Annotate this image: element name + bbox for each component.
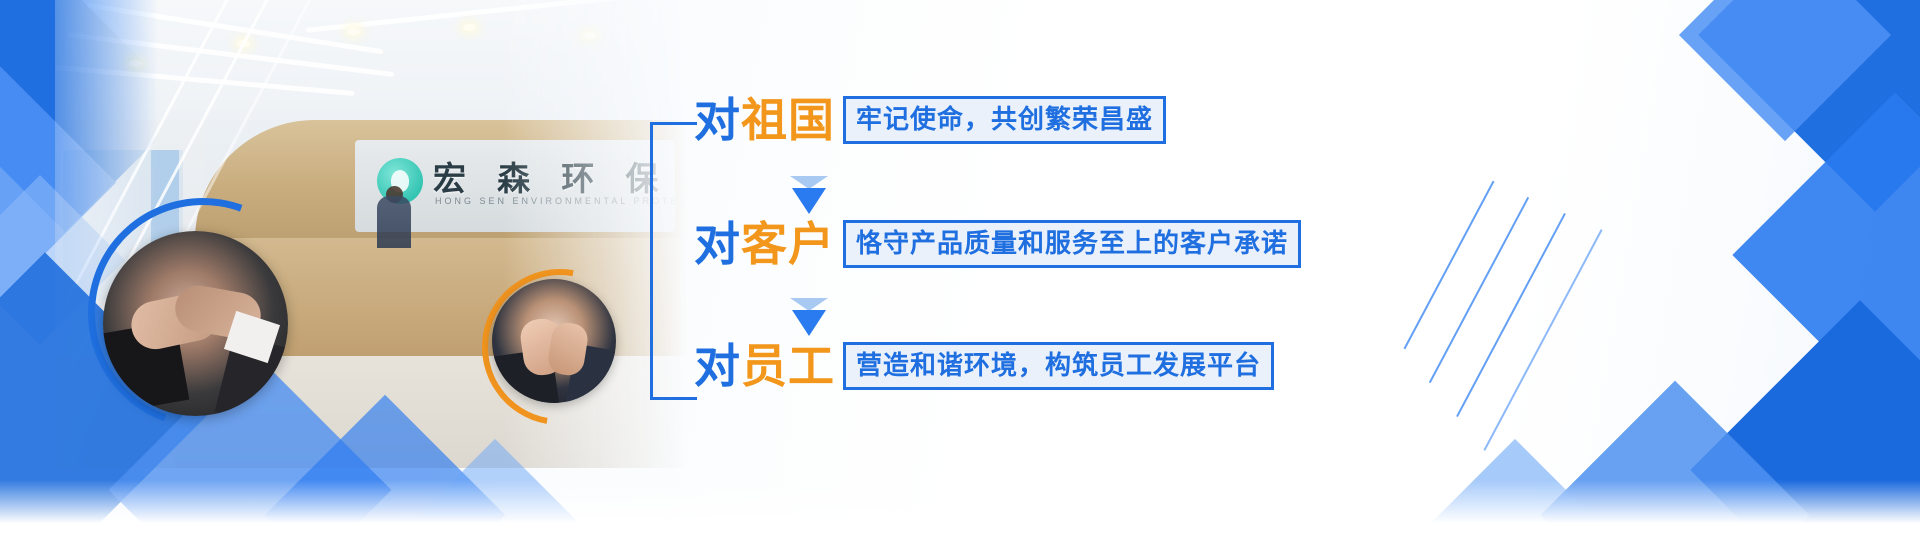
row1-target: 祖国: [741, 97, 835, 143]
culture-statements: 对 祖国 牢记使命，共创繁荣昌盛 对 客户 恪守产品质量和服务至上的客户承诺 对…: [650, 80, 1350, 400]
ceiling-strip: [306, 0, 684, 33]
row2-phrase: 恪守产品质量和服务至上的客户承诺: [843, 220, 1301, 268]
company-culture-banner: 宏 森 环 保 HONG SEN ENVIRONMENTAL PROTECTIO…: [0, 0, 1920, 550]
arrow-down-icon: [792, 188, 826, 214]
row1-prefix: 对: [694, 97, 741, 143]
statement-row-employee: 对 员工 营造和谐环境，构筑员工发展平台: [694, 342, 1274, 390]
row3-phrase: 营造和谐环境，构筑员工发展平台: [843, 342, 1274, 390]
ceiling-light: [463, 24, 476, 31]
ceiling-light: [347, 28, 360, 35]
lobby-ceiling: [55, 0, 695, 120]
brand-name-cn: 宏 森 环 保: [433, 152, 670, 200]
bottom-fade: [0, 480, 1920, 550]
row3-prefix: 对: [694, 343, 741, 389]
statement-row-customer: 对 客户 恪守产品质量和服务至上的客户承诺: [694, 220, 1301, 268]
receptionist-body: [377, 196, 411, 248]
row3-target: 员工: [741, 343, 835, 389]
handshake-photo: [103, 231, 288, 416]
row2-target: 客户: [741, 221, 835, 267]
statement-row-country: 对 祖国 牢记使命，共创繁荣昌盛: [694, 96, 1166, 144]
row1-phrase: 牢记使命，共创繁荣昌盛: [843, 96, 1166, 144]
ceiling-light: [583, 32, 596, 39]
bracket-connector: [650, 122, 697, 400]
arrow-down-icon: [792, 310, 826, 336]
row2-prefix: 对: [694, 221, 741, 267]
ceiling-light: [129, 60, 142, 67]
ceiling-strip: [55, 65, 354, 96]
applause-photo: [492, 279, 616, 403]
